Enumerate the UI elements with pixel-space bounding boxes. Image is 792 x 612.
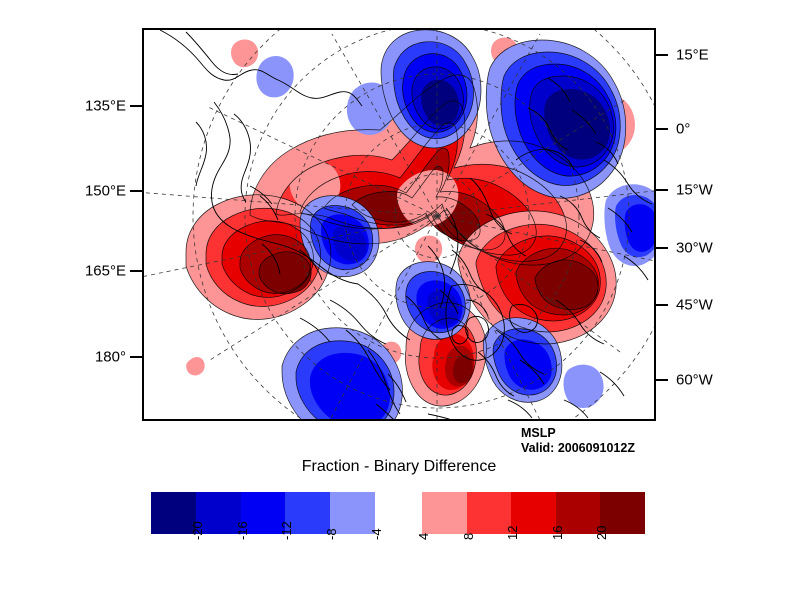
colorbar-tick-label-0: -20: [190, 521, 205, 540]
axis-tick-label-left-1: 150°E: [85, 184, 126, 199]
axis-tick-label-right-3: 30°W: [676, 241, 713, 256]
annotation-field: MSLP: [521, 426, 635, 441]
colorbar-tick-label-6: 8: [461, 533, 476, 540]
page-title: Fraction - Binary Difference: [143, 458, 655, 476]
axis-tick-label-left-0: 135°E: [85, 99, 126, 114]
axis-tick-label-right-0: 15°E: [676, 48, 709, 63]
axis-tick-label-right-5: 60°W: [676, 373, 713, 388]
colorbar-tick-label-3: -8: [324, 528, 339, 540]
colorbar-tick-label-2: -12: [279, 521, 294, 540]
colorbar-tick-label-9: 20: [594, 526, 609, 540]
colorbar-tick-label-5: 4: [416, 533, 431, 540]
figure-canvas: 135°E 150°E 165°E 180° 15°E 0° 15°W 30°W…: [0, 0, 792, 612]
colorbar-tick-label-7: 12: [505, 526, 520, 540]
contour-band-negative-4-blob-b: [347, 83, 394, 135]
axis-tick-label-left-3: 180°: [95, 350, 126, 365]
axis-tick-label-right-1: 0°: [676, 122, 690, 137]
axis-tick-label-left-2: 165°E: [85, 264, 126, 279]
colorbar-positive-half: [422, 492, 645, 534]
axis-tick-label-right-2: 15°W: [676, 183, 713, 198]
colorbar-tick-label-8: 16: [550, 526, 565, 540]
difference-colorbar: [151, 492, 645, 534]
colorbar-tick-label-1: -16: [235, 521, 250, 540]
right-axis-ticks: [655, 55, 668, 380]
annotation-valid-time: Valid: 2006091012Z: [521, 441, 635, 456]
colorbar-swatch-pos-0: [422, 492, 467, 534]
left-axis-ticks: [130, 106, 143, 357]
colorbar-negative-half: [151, 492, 375, 534]
contour-band-negative-4-blob-c: [564, 365, 604, 408]
axis-tick-label-right-4: 45°W: [676, 298, 713, 313]
field-annotation: MSLP Valid: 2006091012Z: [521, 426, 635, 456]
colorbar-tick-label-4: -4: [369, 528, 384, 540]
